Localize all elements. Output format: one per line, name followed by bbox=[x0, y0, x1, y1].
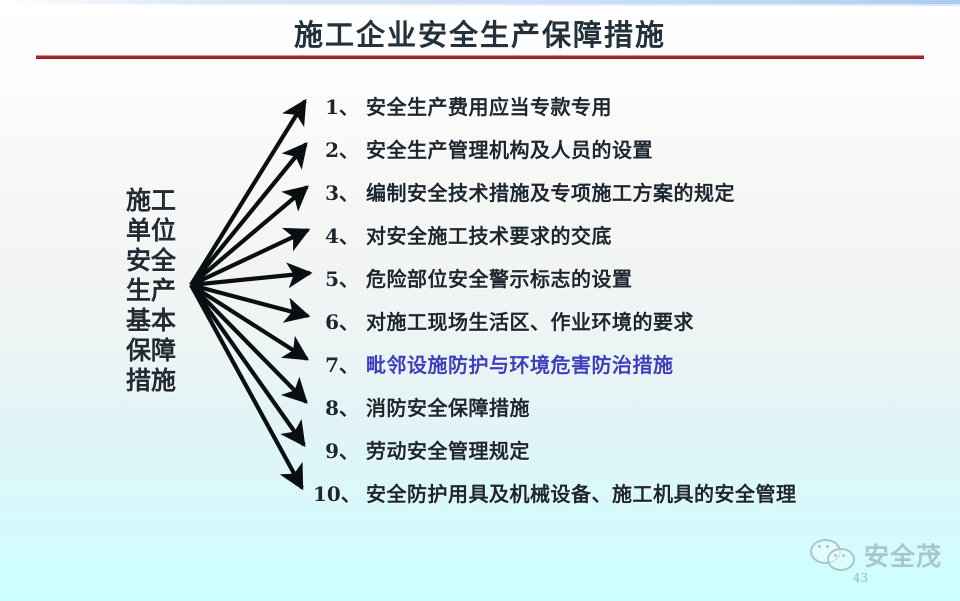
list-item-number: 10、 bbox=[313, 473, 359, 516]
list-item[interactable]: 6、对施工现场生活区、作业环境的要求 bbox=[313, 301, 953, 344]
arrow-to-item-9 bbox=[191, 285, 304, 445]
title-underline-rule bbox=[36, 55, 924, 59]
list-item[interactable]: 2、安全生产管理机构及人员的设置 bbox=[313, 129, 953, 172]
list-item-label: 对安全施工技术要求的交底 bbox=[366, 224, 612, 248]
list-item[interactable]: 4、对安全施工技术要求的交底 bbox=[313, 215, 953, 258]
top-edge-band-secondary bbox=[0, 4, 960, 6]
left-label-char: 措 bbox=[126, 366, 151, 396]
arrow-to-item-10 bbox=[191, 285, 302, 488]
left-label-char: 全 bbox=[151, 246, 176, 276]
arrow-to-item-6 bbox=[191, 285, 308, 316]
list-item[interactable]: 10、安全防护用具及机械设备、施工机具的安全管理 bbox=[313, 473, 953, 516]
arrow-to-item-5 bbox=[191, 273, 310, 285]
arrow-to-item-1 bbox=[191, 101, 305, 285]
left-label-char: 生 bbox=[126, 276, 151, 306]
arrow-to-item-7 bbox=[191, 285, 307, 359]
arrow-to-item-2 bbox=[191, 144, 306, 285]
left-label-char: 安 bbox=[126, 246, 151, 276]
list-item-label: 安全生产费用应当专款专用 bbox=[366, 95, 612, 119]
list-item-number: 8、 bbox=[313, 387, 359, 430]
arrow-to-item-4 bbox=[191, 230, 308, 285]
arrow-group bbox=[191, 101, 310, 488]
wechat-dot bbox=[842, 554, 845, 557]
list-item-label: 安全生产管理机构及人员的设置 bbox=[366, 138, 653, 162]
list-item-label: 消防安全保障措施 bbox=[366, 396, 530, 420]
list-item[interactable]: 8、消防安全保障措施 bbox=[313, 387, 953, 430]
list-item-number: 7、 bbox=[313, 344, 359, 387]
left-label-column-right: 施 单 安 生 基 保 措 bbox=[126, 186, 151, 396]
left-label-char: 单 bbox=[126, 216, 151, 246]
left-label-char: 施 bbox=[126, 186, 151, 216]
left-label-char: 工 bbox=[151, 186, 176, 216]
watermark-label: 安全茂 bbox=[864, 537, 942, 573]
list-item-number: 6、 bbox=[313, 301, 359, 344]
list-item-label: 劳动安全管理规定 bbox=[366, 439, 530, 463]
watermark: 安全茂 bbox=[810, 537, 942, 573]
list-item-label: 危险部位安全警示标志的设置 bbox=[366, 267, 633, 291]
left-label-char: 障 bbox=[151, 336, 176, 366]
slide-canvas: 施工企业安全生产保障措施 施 单 安 生 基 保 措 工 位 全 产 本 障 施 bbox=[0, 0, 960, 601]
list-item-label: 编制安全技术措施及专项施工方案的规定 bbox=[366, 181, 735, 205]
list-item[interactable]: 9、劳动安全管理规定 bbox=[313, 430, 953, 473]
left-vertical-label: 施 单 安 生 基 保 措 工 位 全 产 本 障 施 bbox=[112, 186, 190, 396]
wechat-dot bbox=[834, 554, 837, 557]
list-item-number: 3、 bbox=[313, 172, 359, 215]
wechat-dot bbox=[826, 545, 829, 548]
left-label-char: 保 bbox=[126, 336, 151, 366]
left-label-char: 本 bbox=[151, 306, 176, 336]
list-item-label: 毗邻设施防护与环境危害防治措施 bbox=[366, 353, 674, 377]
arrow-to-item-3 bbox=[191, 187, 307, 285]
list-item-number: 4、 bbox=[313, 215, 359, 258]
measure-list: 1、安全生产费用应当专款专用 2、安全生产管理机构及人员的设置 3、编制安全技术… bbox=[313, 86, 953, 516]
list-item-label: 对施工现场生活区、作业环境的要求 bbox=[366, 310, 694, 334]
page-title: 施工企业安全生产保障措施 bbox=[0, 12, 960, 54]
wechat-icon bbox=[810, 537, 856, 573]
left-label-char: 产 bbox=[151, 276, 176, 306]
left-label-column-left: 工 位 全 产 本 障 施 bbox=[151, 186, 176, 396]
list-item-number: 5、 bbox=[313, 258, 359, 301]
left-label-char: 位 bbox=[151, 216, 176, 246]
list-item-number: 1、 bbox=[313, 86, 359, 129]
list-item[interactable]: 3、编制安全技术措施及专项施工方案的规定 bbox=[313, 172, 953, 215]
list-item-number: 2、 bbox=[313, 129, 359, 172]
left-label-char: 基 bbox=[126, 306, 151, 336]
page-number: 43 bbox=[853, 571, 868, 585]
list-item[interactable]: 5、危险部位安全警示标志的设置 bbox=[313, 258, 953, 301]
wechat-bubble-small bbox=[827, 548, 855, 571]
list-item-number: 9、 bbox=[313, 430, 359, 473]
list-item-label: 安全防护用具及机械设备、施工机具的安全管理 bbox=[366, 482, 797, 506]
list-item[interactable]: 1、安全生产费用应当专款专用 bbox=[313, 86, 953, 129]
arrow-to-item-8 bbox=[191, 285, 306, 402]
list-item-highlighted[interactable]: 7、毗邻设施防护与环境危害防治措施 bbox=[313, 344, 953, 387]
wechat-dot bbox=[818, 545, 821, 548]
left-label-char: 施 bbox=[151, 366, 176, 396]
